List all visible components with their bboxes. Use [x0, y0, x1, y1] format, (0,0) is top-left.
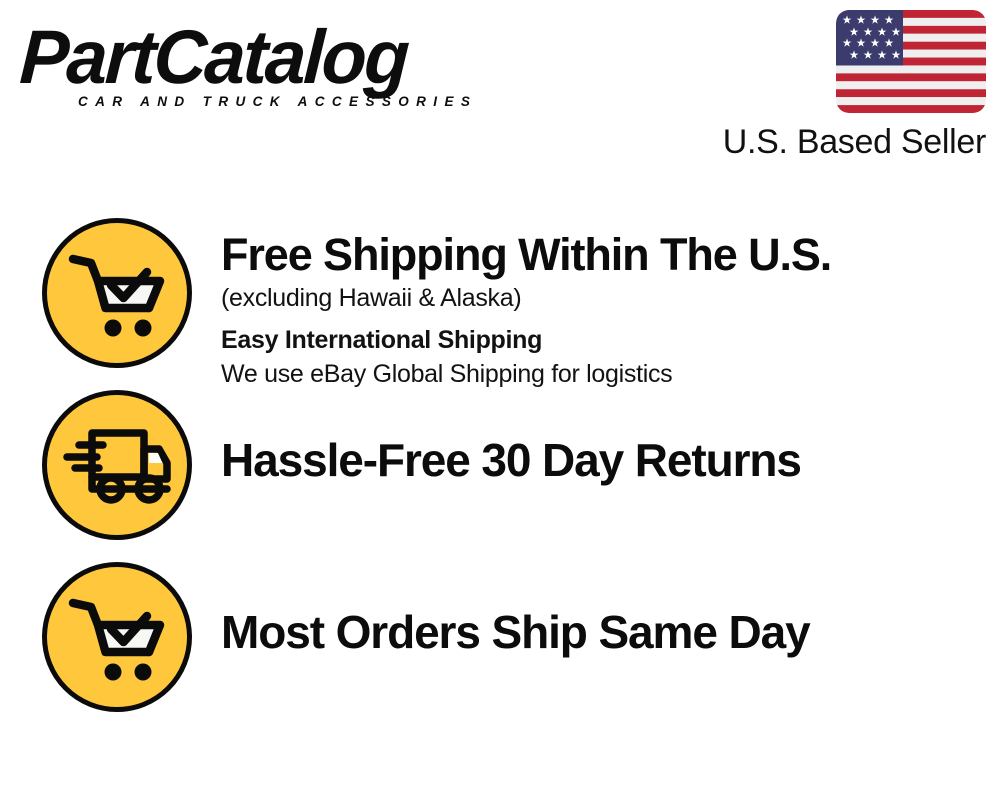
feature-sub-detail: We use eBay Global Shipping for logistic… — [221, 357, 1000, 391]
feature-row: Free Shipping Within The U.S. (excluding… — [0, 218, 1000, 390]
banner-header: PartCatalog CAR AND TRUCK ACCESSORIES — [0, 0, 1000, 170]
shopping-cart-check-icon — [42, 218, 192, 368]
us-based-seller-badge: U.S. Based Seller — [676, 10, 986, 162]
feature-heading: Hassle-Free 30 Day Returns — [221, 434, 1000, 487]
feature-row: Most Orders Ship Same Day — [0, 562, 1000, 734]
seller-info-banner: PartCatalog CAR AND TRUCK ACCESSORIES — [0, 0, 1000, 800]
feature-row: Hassle-Free 30 Day Returns — [0, 390, 1000, 562]
feature-list: Free Shipping Within The U.S. (excluding… — [0, 218, 1000, 734]
feature-icon-wrap — [42, 562, 192, 712]
delivery-truck-icon — [42, 390, 192, 540]
us-flag-icon — [836, 10, 986, 113]
feature-icon-wrap — [42, 390, 192, 540]
feature-icon-wrap — [42, 218, 192, 368]
feature-heading: Most Orders Ship Same Day — [221, 606, 1000, 659]
feature-text-block: Free Shipping Within The U.S. (excluding… — [221, 218, 1000, 391]
feature-sub-note: (excluding Hawaii & Alaska) — [221, 281, 1000, 315]
shopping-cart-check-icon — [42, 562, 192, 712]
us-based-seller-label: U.S. Based Seller — [676, 122, 986, 162]
partcatalog-logo: PartCatalog CAR AND TRUCK ACCESSORIES — [22, 20, 492, 120]
brand-wordmark: PartCatalog — [18, 20, 478, 96]
feature-heading: Free Shipping Within The U.S. — [221, 228, 1000, 281]
feature-sub-bold: Easy International Shipping — [221, 323, 1000, 357]
feature-text-block: Hassle-Free 30 Day Returns — [221, 390, 1000, 487]
feature-text-block: Most Orders Ship Same Day — [221, 562, 1000, 659]
